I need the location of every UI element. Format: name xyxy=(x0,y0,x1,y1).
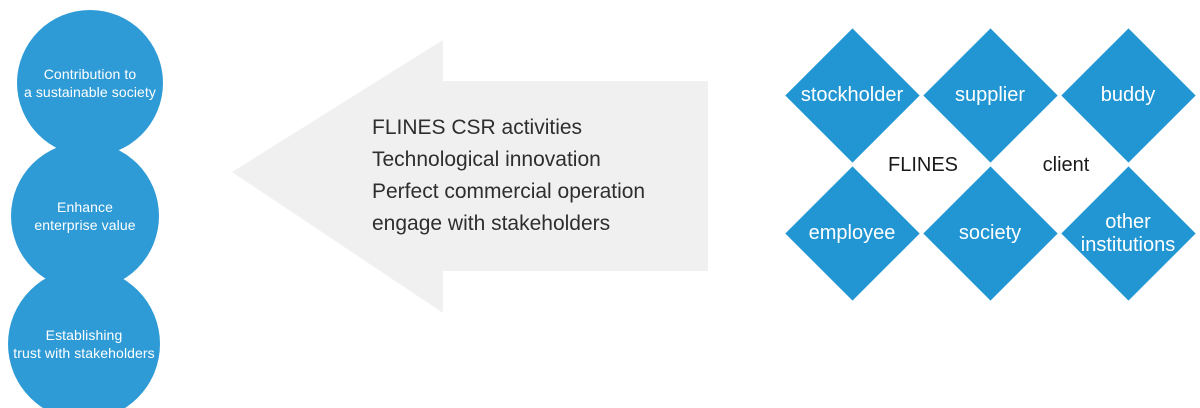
diamond-label-employee: employee xyxy=(782,222,922,245)
stakeholder-diamond-grid: stockholder supplier buddy employee soci… xyxy=(0,0,1200,408)
diamond-label-stockholder: stockholder xyxy=(782,84,922,107)
diamond-label-other-institutions: other institutions xyxy=(1058,211,1198,257)
diamond-label-buddy: buddy xyxy=(1058,84,1198,107)
diamond-label-supplier: supplier xyxy=(920,84,1060,107)
diagram-canvas: Contribution to a sustainable society En… xyxy=(0,0,1200,408)
gap-label-client: client xyxy=(1006,154,1126,177)
gap-label-flines: FLINES xyxy=(863,154,983,177)
diamond-label-society: society xyxy=(920,222,1060,245)
